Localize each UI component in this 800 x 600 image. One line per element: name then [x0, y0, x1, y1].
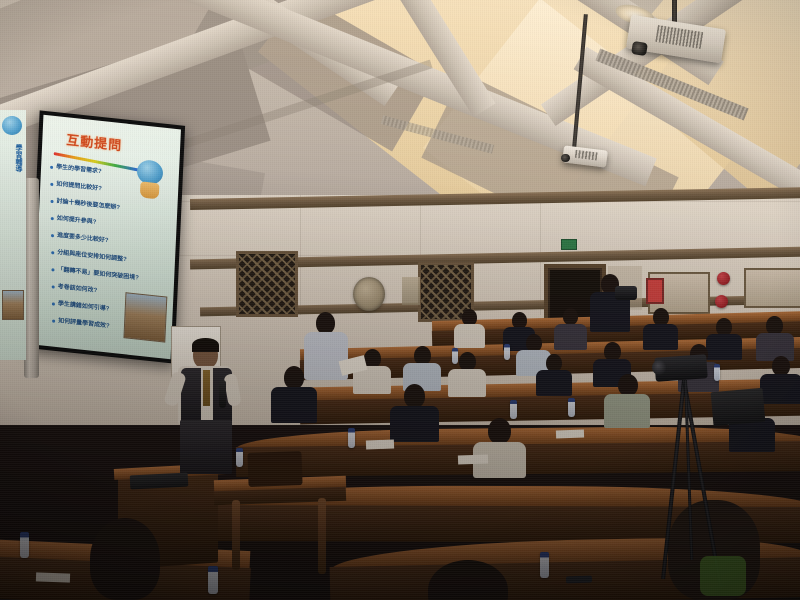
person-torso — [706, 334, 742, 360]
water-bottle — [504, 344, 510, 360]
side-poster-text: 學習輔導 — [13, 144, 23, 172]
mascot-icon — [2, 116, 22, 135]
phone[interactable] — [566, 576, 592, 584]
person-torso — [271, 387, 317, 423]
screen-support-post — [24, 178, 39, 378]
person-torso — [390, 406, 439, 442]
person-torso — [554, 324, 587, 350]
chair-back — [247, 451, 302, 487]
slide-line: 考卷該如何改? — [58, 281, 98, 294]
person-torso — [536, 370, 572, 396]
person-torso — [760, 374, 800, 404]
side-poster: 學習輔導 — [0, 110, 26, 360]
slide-photo-thumbnail — [123, 292, 167, 342]
person-torso — [454, 324, 485, 348]
slide-line: 學生的學習需求? — [56, 161, 102, 175]
water-bottle — [20, 532, 29, 558]
notice-board — [646, 278, 664, 304]
speaker-tie — [203, 370, 210, 406]
bag — [700, 556, 746, 596]
person-torso — [604, 394, 650, 428]
person-torso — [643, 324, 678, 350]
lattice-window — [236, 251, 298, 317]
water-bottle — [540, 552, 549, 578]
speaker-hair — [192, 338, 219, 352]
chair-leg — [232, 500, 240, 570]
microphone[interactable] — [219, 380, 226, 408]
water-bottle — [714, 364, 720, 381]
person-head — [284, 366, 304, 389]
person-head — [563, 308, 578, 325]
foreground-person-head — [90, 518, 160, 600]
camera-lens-icon — [652, 360, 667, 375]
water-bottle — [452, 348, 458, 364]
projector-lens-icon — [631, 41, 648, 56]
water-bottle — [348, 428, 355, 448]
projector-lens-icon — [561, 154, 570, 162]
notice-board — [744, 268, 800, 308]
papers — [36, 572, 70, 582]
projection-screen: 互動提問 學生的學習需求? 如何提問比較好? 討論十幾秒後要怎麼辦? — [29, 110, 185, 363]
person-head — [404, 384, 425, 408]
water-bottle — [568, 398, 575, 417]
person-head — [618, 374, 638, 396]
wall-plaque — [402, 277, 420, 305]
person-torso — [448, 369, 486, 397]
slide-line: 如何提升參與? — [57, 213, 97, 226]
water-bottle — [236, 448, 243, 467]
slide-title: 互動提問 — [66, 129, 123, 154]
water-bottle — [208, 566, 218, 594]
water-bottle — [510, 400, 517, 419]
papers — [458, 454, 488, 464]
laptop[interactable] — [711, 388, 766, 426]
speaker-trousers — [180, 420, 232, 474]
wall-seal — [353, 277, 385, 311]
fire-alarm-bell — [717, 272, 730, 285]
photograph-lecture-hall: 互動提問 學生的學習需求? 如何提問比較好? 討論十幾秒後要怎麼辦? — [0, 0, 800, 600]
person-head — [316, 312, 335, 334]
person-head — [488, 418, 511, 444]
person-head — [772, 356, 790, 376]
papers — [556, 430, 584, 439]
chair-leg — [318, 498, 326, 574]
exit-sign — [561, 239, 577, 250]
handheld-camera — [615, 286, 637, 300]
fire-alarm-bell — [715, 295, 728, 308]
papers — [366, 440, 394, 450]
